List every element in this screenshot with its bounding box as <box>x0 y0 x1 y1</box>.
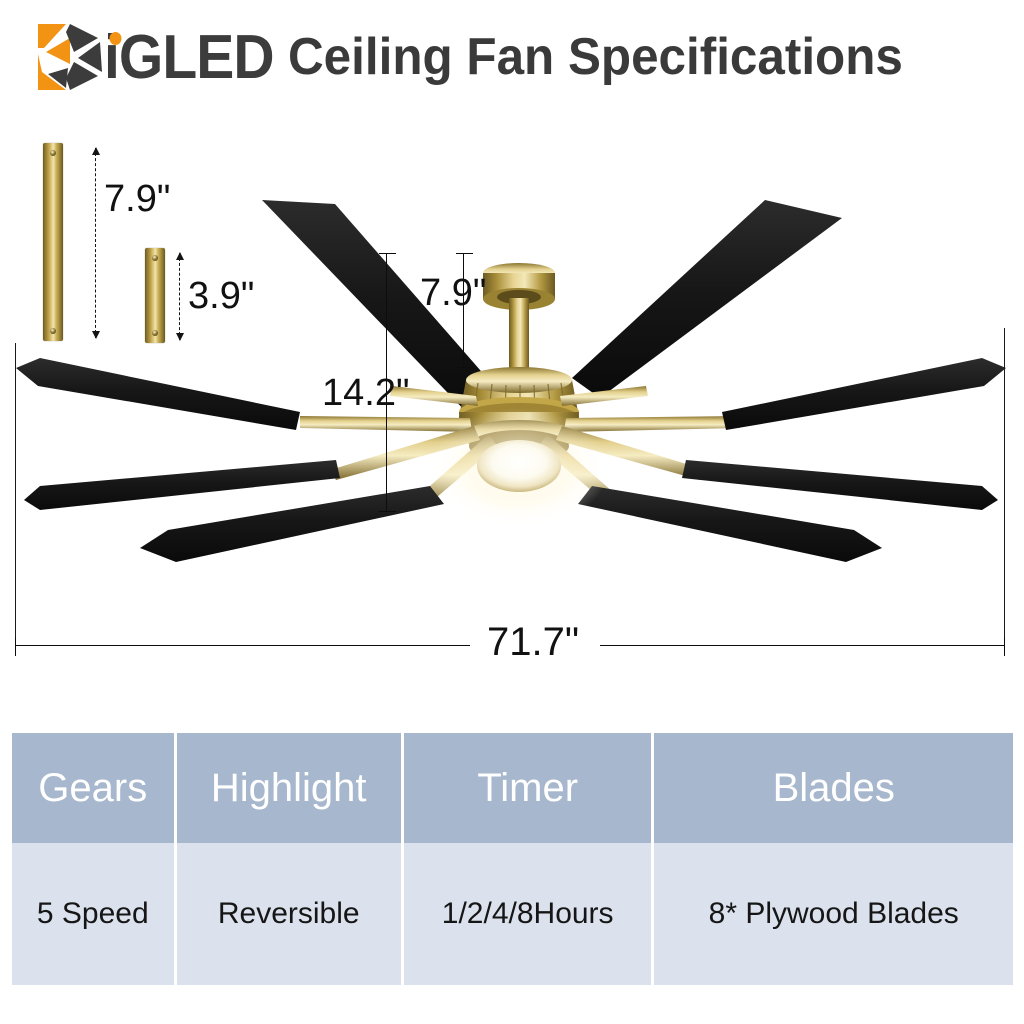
downrod-height-dimension-label: 7.9" <box>420 272 486 315</box>
table-header-gears: Gears <box>12 733 177 843</box>
table-header-row: Gears Highlight Timer Blades <box>12 733 1013 843</box>
specification-table: Gears Highlight Timer Blades 5 Speed Rev… <box>12 733 1013 985</box>
table-cell-blades: 8* Plywood Blades <box>654 843 1013 985</box>
table-header-blades: Blades <box>654 733 1013 843</box>
dimension-tick-icon <box>379 253 396 254</box>
dimension-tick-icon <box>456 367 473 368</box>
total-height-dimension-label: 14.2" <box>322 372 409 415</box>
screw-hole-icon <box>50 150 56 156</box>
dimension-endtick-icon <box>1004 637 1005 656</box>
blade-span-dimension-line-left <box>15 645 470 646</box>
table-cell-gears: 5 Speed <box>12 843 177 985</box>
dimension-tick-icon <box>379 511 396 512</box>
led-light <box>429 408 609 528</box>
dimension-tick-icon <box>456 253 473 254</box>
table-cell-timer: 1/2/4/8Hours <box>404 843 655 985</box>
span-extension-line-right <box>1004 328 1005 645</box>
blade-span-dimension-label: 71.7" <box>487 620 579 665</box>
diglet-aperture-logo-icon <box>36 22 104 92</box>
table-row: 5 Speed Reversible 1/2/4/8Hours 8* Plywo… <box>12 843 1013 985</box>
page-title: Ceiling Fan Specifications <box>288 26 903 88</box>
arrow-up-icon <box>92 147 100 155</box>
blade-span-dimension-line-right <box>600 645 1005 646</box>
table-header-highlight: Highlight <box>177 733 404 843</box>
ceiling-fan-illustration <box>0 180 1024 600</box>
table-header-timer: Timer <box>404 733 655 843</box>
page-header: iGLED Ceiling Fan Specifications <box>0 0 1024 112</box>
brand-wordmark: iGLED <box>104 24 274 92</box>
brand-dot-icon <box>110 32 122 45</box>
fan-canopy-and-downrod <box>483 263 555 376</box>
span-extension-line-left <box>15 343 16 645</box>
table-cell-highlight: Reversible <box>177 843 404 985</box>
brand-wordmark-text: iGLED <box>104 23 274 92</box>
dimension-endtick-icon <box>15 637 16 656</box>
